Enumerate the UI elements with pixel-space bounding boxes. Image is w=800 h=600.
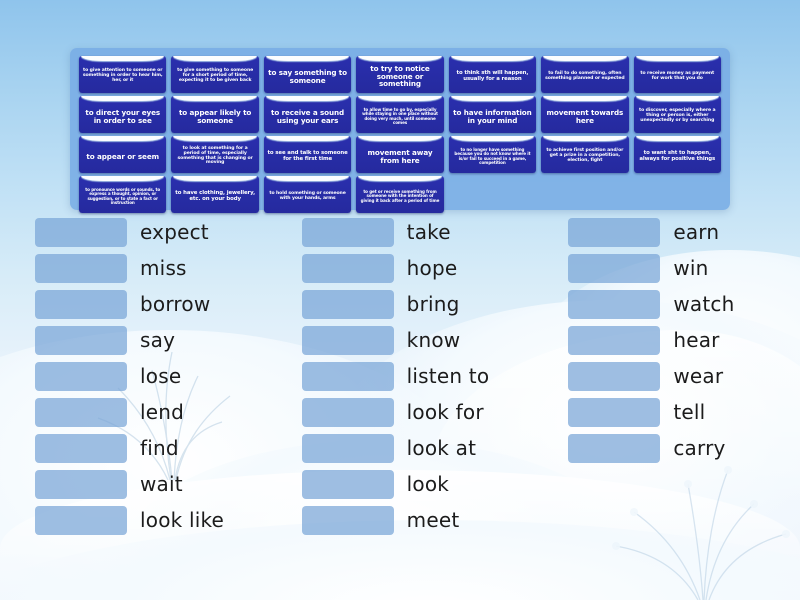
answer-dropzone[interactable] [302, 254, 394, 283]
definition-card[interactable]: to achieve first position and/or get a p… [541, 136, 628, 173]
definition-card[interactable]: to appear likely to someone [171, 96, 258, 133]
answer-dropzone[interactable] [35, 362, 127, 391]
definition-card[interactable]: to give something to someone for a short… [171, 56, 258, 93]
definition-card[interactable]: to have information in your mind [449, 96, 536, 133]
definition-card-text: to appear likely to someone [174, 109, 255, 125]
answer-row: hope [302, 250, 534, 286]
answer-dropzone[interactable] [35, 506, 127, 535]
definition-card-text: to no longer have something because you … [452, 148, 533, 166]
column-3: earnwinwatchhearweartellcarry [568, 214, 800, 538]
definition-card[interactable]: to fail to do something, often something… [541, 56, 628, 93]
definition-card-text: movement away from here [359, 149, 440, 165]
definition-card-text: to appear or seem [86, 153, 159, 161]
answer-dropzone[interactable] [35, 218, 127, 247]
definition-card-text: to direct your eyes in order to see [82, 109, 163, 125]
answer-row: find [35, 430, 267, 466]
definition-card[interactable]: to appear or seem [79, 136, 166, 173]
answer-row: earn [568, 214, 800, 250]
definition-card-text: to discover, especially where a thing or… [637, 109, 718, 124]
definition-card-text: to say something to someone [267, 69, 348, 85]
answer-label: look [407, 472, 449, 496]
definition-card-text: to hold something or someone with your h… [267, 192, 348, 202]
definition-card[interactable]: to receive a sound using your ears [264, 96, 351, 133]
answer-row: lend [35, 394, 267, 430]
answer-dropzone[interactable] [568, 254, 660, 283]
answer-row: listen to [302, 358, 534, 394]
definition-card-text: to achieve first position and/or get a p… [544, 149, 625, 164]
answer-row: expect [35, 214, 267, 250]
answer-label: miss [140, 256, 187, 280]
definition-card[interactable]: to no longer have something because you … [449, 136, 536, 173]
answer-dropzone[interactable] [35, 326, 127, 355]
answer-row: carry [568, 430, 800, 466]
answer-row: look like [35, 502, 267, 538]
definition-card-text: to think sth will happen, usually for a … [452, 71, 533, 83]
answer-row: hear [568, 322, 800, 358]
definition-card[interactable]: to allow time to go by, especially while… [356, 96, 443, 133]
answer-row: know [302, 322, 534, 358]
answer-dropzone[interactable] [302, 218, 394, 247]
answer-label: lend [140, 400, 184, 424]
definition-card[interactable]: to give attention to someone or somethin… [79, 56, 166, 93]
answer-label: win [673, 256, 708, 280]
answer-dropzone[interactable] [568, 362, 660, 391]
definition-card[interactable]: movement away from here [356, 136, 443, 173]
answer-label: find [140, 436, 179, 460]
answer-label: earn [673, 220, 719, 244]
answer-row: look [302, 466, 534, 502]
answer-label: look at [407, 436, 476, 460]
answer-dropzone[interactable] [568, 326, 660, 355]
activity-canvas: to give attention to someone or somethin… [0, 0, 800, 600]
answer-dropzone[interactable] [568, 398, 660, 427]
definition-card[interactable]: to direct your eyes in order to see [79, 96, 166, 133]
answer-dropzone[interactable] [302, 470, 394, 499]
answer-dropzone[interactable] [302, 398, 394, 427]
definition-card[interactable]: to think sth will happen, usually for a … [449, 56, 536, 93]
definition-card-text: to get or receive something from someone… [359, 190, 440, 203]
answer-row: watch [568, 286, 800, 322]
definition-card-text: to give attention to someone or somethin… [82, 69, 163, 84]
definition-card-text: to try to notice someone or something [359, 65, 440, 88]
answer-dropzone[interactable] [35, 254, 127, 283]
answer-row: tell [568, 394, 800, 430]
answer-label: listen to [407, 364, 490, 388]
definition-card-text: to allow time to go by, especially while… [359, 108, 440, 126]
definition-card-text: to pronounce words or sounds, to express… [82, 188, 163, 206]
definition-card-text: to receive money as payment for work tha… [637, 72, 718, 82]
answer-dropzone[interactable] [35, 434, 127, 463]
answer-dropzone[interactable] [302, 290, 394, 319]
answer-label: say [140, 328, 175, 352]
column-2: takehopebringknowlisten tolook forlook a… [302, 214, 534, 538]
answer-dropzone[interactable] [302, 434, 394, 463]
answer-dropzone[interactable] [568, 290, 660, 319]
definition-card-text: to receive a sound using your ears [267, 109, 348, 125]
answer-columns: expectmissborrowsayloselendfindwaitlook … [0, 214, 800, 538]
answer-row: look at [302, 430, 534, 466]
definition-card[interactable]: to pronounce words or sounds, to express… [79, 176, 166, 213]
answer-label: hope [407, 256, 458, 280]
definition-card-text: to want sht to happen, always for positi… [637, 151, 718, 163]
definition-card-text: to fail to do something, often something… [544, 72, 625, 82]
answer-label: hear [673, 328, 719, 352]
definition-card[interactable]: to receive money as payment for work tha… [634, 56, 721, 93]
answer-row: meet [302, 502, 534, 538]
answer-dropzone[interactable] [35, 398, 127, 427]
answer-label: bring [407, 292, 460, 316]
answer-label: carry [673, 436, 725, 460]
answer-row: take [302, 214, 534, 250]
definition-card-text: to look at something for a period of tim… [174, 147, 255, 167]
answer-dropzone[interactable] [35, 470, 127, 499]
definition-card[interactable]: to hold something or someone with your h… [264, 176, 351, 213]
definition-card[interactable]: to say something to someone [264, 56, 351, 93]
definition-card[interactable]: to try to notice someone or something [356, 56, 443, 93]
definitions-panel: to give attention to someone or somethin… [70, 48, 730, 210]
answer-row: look for [302, 394, 534, 430]
definition-card[interactable]: to discover, especially where a thing or… [634, 96, 721, 133]
answer-row: bring [302, 286, 534, 322]
answer-label: tell [673, 400, 705, 424]
answer-dropzone[interactable] [302, 506, 394, 535]
answer-row: win [568, 250, 800, 286]
answer-label: borrow [140, 292, 210, 316]
answer-label: meet [407, 508, 460, 532]
definition-card-text: to have clothing, jewellery, etc. on you… [174, 191, 255, 203]
answer-dropzone[interactable] [302, 362, 394, 391]
answer-dropzone[interactable] [302, 326, 394, 355]
answer-row: borrow [35, 286, 267, 322]
answer-label: wear [673, 364, 723, 388]
definition-card-text: to have information in your mind [452, 109, 533, 125]
answer-row: say [35, 322, 267, 358]
definition-card[interactable]: to have clothing, jewellery, etc. on you… [171, 176, 258, 213]
answer-row: lose [35, 358, 267, 394]
answer-row: miss [35, 250, 267, 286]
definition-cards-grid: to give attention to someone or somethin… [74, 54, 726, 215]
definition-card-text: to give something to someone for a short… [174, 69, 255, 84]
definition-card[interactable]: movement towards here [541, 96, 628, 133]
definition-card[interactable]: to look at something for a period of tim… [171, 136, 258, 173]
answer-label: wait [140, 472, 183, 496]
answer-label: look for [407, 400, 484, 424]
answer-row: wait [35, 466, 267, 502]
definition-card[interactable]: to see and talk to someone for the first… [264, 136, 351, 173]
column-1: expectmissborrowsayloselendfindwaitlook … [35, 214, 267, 538]
answer-label: expect [140, 220, 209, 244]
answer-row: wear [568, 358, 800, 394]
answer-label: look like [140, 508, 224, 532]
answer-label: watch [673, 292, 734, 316]
answer-dropzone[interactable] [568, 218, 660, 247]
answer-label: take [407, 220, 451, 244]
answer-dropzone[interactable] [35, 290, 127, 319]
definition-card-text: to see and talk to someone for the first… [267, 151, 348, 163]
answer-dropzone[interactable] [568, 434, 660, 463]
answer-label: know [407, 328, 461, 352]
definition-card-text: movement towards here [544, 109, 625, 125]
definition-card[interactable]: to want sht to happen, always for positi… [634, 136, 721, 173]
answer-label: lose [140, 364, 181, 388]
definition-card[interactable]: to get or receive something from someone… [356, 176, 443, 213]
